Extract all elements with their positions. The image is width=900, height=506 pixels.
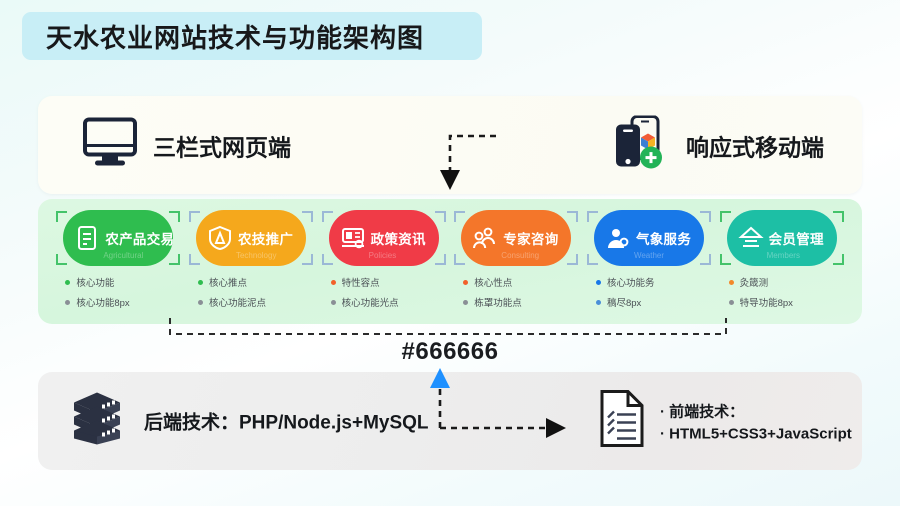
- document-list-icon: [74, 225, 100, 251]
- bullet-item: 核心功能务: [596, 275, 712, 289]
- feature-pill-holder: 专家咨询 Consulting: [454, 210, 578, 266]
- device-mobile: 响应式移动端: [610, 116, 824, 175]
- bullet-dot: [65, 280, 70, 285]
- member-hui-icon: [738, 225, 764, 251]
- server-stack-icon: [68, 391, 126, 452]
- features-section: 农产品交易 Agricultural 核心功能 核心功能8px: [38, 199, 862, 324]
- document-page-icon: [598, 390, 646, 453]
- bracket-top-left: [322, 211, 333, 222]
- bullet-item: 灸箴测: [729, 275, 845, 289]
- bullet-dot: [729, 300, 734, 305]
- features-dashed-connector: [168, 318, 728, 340]
- bullet-dot: [331, 300, 336, 305]
- bracket-bottom-left: [322, 254, 333, 265]
- news-monitor-icon: [340, 225, 366, 251]
- mobile-phone-icon: [610, 116, 670, 175]
- device-web: 三栏式网页端: [83, 118, 291, 173]
- bullet-item: 核心功能8px: [65, 295, 181, 309]
- bullet-dot: [596, 300, 601, 305]
- bracket-bottom-right: [833, 254, 844, 265]
- backend-block: 后端技术：PHP/Node.js+MySQL: [68, 391, 429, 452]
- experts-group-icon: [472, 225, 498, 251]
- feature-pill-holder: 气象服务 Weather: [587, 210, 711, 266]
- bullet-dot: [65, 300, 70, 305]
- bracket-top-left: [454, 211, 465, 222]
- bottom-connector-arrows: [428, 366, 588, 443]
- bracket-bottom-left: [189, 254, 200, 265]
- bracket-top-right: [567, 211, 578, 222]
- feature-ghost-text: Consulting: [501, 251, 539, 260]
- frontend-block: · 前端技术： · HTML5+CSS3+JavaScript: [598, 390, 852, 453]
- feature-ghost-text: Technology: [236, 251, 276, 260]
- feature-card[interactable]: 专家咨询 Consulting 核心性点 栋罩功能点: [450, 199, 582, 324]
- features-row: 农产品交易 Agricultural 核心功能 核心功能8px: [38, 199, 862, 324]
- feature-card[interactable]: 政策资讯 Policies 特性容点 核心功能光点: [318, 199, 450, 324]
- feature-pill[interactable]: 会员管理 Members: [727, 210, 837, 266]
- bullet-item: 核心功能光点: [331, 295, 447, 309]
- feature-card[interactable]: 农产品交易 Agricultural 核心功能 核心功能8px: [52, 199, 184, 324]
- feature-bullets: 灸箴测 特导功能8px: [719, 275, 845, 315]
- dashed-arrow-down: [418, 130, 498, 201]
- feature-pill[interactable]: 农产品交易 Agricultural: [63, 210, 173, 266]
- feature-bullets: 核心功能 核心功能8px: [55, 275, 181, 315]
- bullet-item: 栋罩功能点: [463, 295, 579, 309]
- feature-title: 会员管理: [769, 228, 824, 248]
- feature-card[interactable]: 农技推广 Technology 核心推点 核心功能泥点: [185, 199, 317, 324]
- bracket-top-left: [587, 211, 598, 222]
- bracket-bottom-right: [302, 254, 313, 265]
- bullet-dot: [729, 280, 734, 285]
- bracket-bottom-right: [567, 254, 578, 265]
- feature-pill-holder: 农技推广 Technology: [189, 210, 313, 266]
- dashed-arrow-right: [546, 418, 566, 438]
- feature-bullets: 核心功能务 稿尽8px: [586, 275, 712, 315]
- feature-ghost-text: Weather: [634, 251, 664, 260]
- bullet-item: 核心性点: [463, 275, 579, 289]
- bullet-dot: [463, 300, 468, 305]
- bracket-top-left: [720, 211, 731, 222]
- bracket-top-left: [189, 211, 200, 222]
- frontend-lines: · 前端技术： · HTML5+CSS3+JavaScript: [660, 400, 852, 442]
- bullet-label: 核心功能泥点: [209, 295, 266, 309]
- feature-ghost-text: Agricultural: [103, 251, 143, 260]
- bracket-top-right: [302, 211, 313, 222]
- bullet-label: 核心功能务: [607, 275, 655, 289]
- shield-plant-icon: [207, 225, 233, 251]
- frontend-line: · 前端技术：: [660, 400, 852, 421]
- bracket-bottom-left: [56, 254, 67, 265]
- bullet-label: 稿尽8px: [607, 295, 641, 309]
- feature-pill[interactable]: 气象服务 Weather: [594, 210, 704, 266]
- backend-label: 后端技术：PHP/Node.js+MySQL: [144, 408, 429, 435]
- feature-title: 专家咨询: [503, 228, 558, 248]
- feature-pill-holder: 政策资讯 Policies: [322, 210, 446, 266]
- bullet-label: 核心性点: [474, 275, 512, 289]
- bracket-bottom-right: [169, 254, 180, 265]
- bullet-dot: [331, 280, 336, 285]
- feature-pill[interactable]: 政策资讯 Policies: [329, 210, 439, 266]
- bullet-dot: [596, 280, 601, 285]
- bullet-item: 特性容点: [331, 275, 447, 289]
- feature-pill[interactable]: 农技推广 Technology: [196, 210, 306, 266]
- bullet-label: 灸箴测: [740, 275, 769, 289]
- feature-title: 气象服务: [636, 228, 691, 248]
- feature-title: 农技推广: [238, 228, 293, 248]
- bracket-bottom-left: [720, 254, 731, 265]
- bracket-bottom-right: [700, 254, 711, 265]
- bracket-top-right: [700, 211, 711, 222]
- bullet-item: 核心功能泥点: [198, 295, 314, 309]
- bullet-label: 核心功能光点: [342, 295, 399, 309]
- feature-pill-holder: 会员管理 Members: [720, 210, 844, 266]
- bullet-dot: [198, 280, 203, 285]
- bracket-bottom-left: [454, 254, 465, 265]
- bullet-label: 栋罩功能点: [474, 295, 522, 309]
- bullet-label: 核心功能8px: [76, 295, 129, 309]
- feature-bullets: 核心性点 栋罩功能点: [453, 275, 579, 315]
- feature-title: 政策资讯: [371, 228, 426, 248]
- device-web-label: 三栏式网页端: [153, 128, 291, 162]
- feature-card[interactable]: 气象服务 Weather 核心功能务 稿尽8px: [583, 199, 715, 324]
- feature-pill[interactable]: 专家咨询 Consulting: [461, 210, 571, 266]
- bullet-item: 核心功能: [65, 275, 181, 289]
- bracket-bottom-right: [435, 254, 446, 265]
- feature-ghost-text: Policies: [369, 251, 397, 260]
- bullet-item: 稿尽8px: [596, 295, 712, 309]
- feature-bullets: 特性容点 核心功能光点: [321, 275, 447, 315]
- bullet-label: 特性容点: [342, 275, 380, 289]
- feature-pill-holder: 农产品交易 Agricultural: [56, 210, 180, 266]
- feature-ghost-text: Members: [767, 251, 800, 260]
- frontend-line: · HTML5+CSS3+JavaScript: [660, 425, 852, 442]
- feature-bullets: 核心推点 核心功能泥点: [188, 275, 314, 315]
- feature-card[interactable]: 会员管理 Members 灸箴测 特导功能8px: [716, 199, 848, 324]
- page-title-badge: 天水农业网站技术与功能架构图: [22, 12, 482, 60]
- page-title: 天水农业网站技术与功能架构图: [46, 18, 424, 55]
- bullet-label: 核心推点: [209, 275, 247, 289]
- bullet-item: 特导功能8px: [729, 295, 845, 309]
- bullet-item: 核心推点: [198, 275, 314, 289]
- monitor-icon: [83, 118, 137, 173]
- bullet-dot: [463, 280, 468, 285]
- weather-person-icon: [605, 225, 631, 251]
- bracket-top-left: [56, 211, 67, 222]
- bracket-top-right: [435, 211, 446, 222]
- device-mobile-label: 响应式移动端: [686, 128, 824, 162]
- bracket-top-right: [169, 211, 180, 222]
- bullet-label: 特导功能8px: [740, 295, 793, 309]
- feature-title: 农产品交易: [105, 228, 173, 248]
- bullet-dot: [198, 300, 203, 305]
- bracket-bottom-left: [587, 254, 598, 265]
- code-label: #666666: [0, 338, 900, 366]
- dashed-arrow-up: [430, 368, 450, 388]
- bullet-label: 核心功能: [76, 275, 114, 289]
- bracket-top-right: [833, 211, 844, 222]
